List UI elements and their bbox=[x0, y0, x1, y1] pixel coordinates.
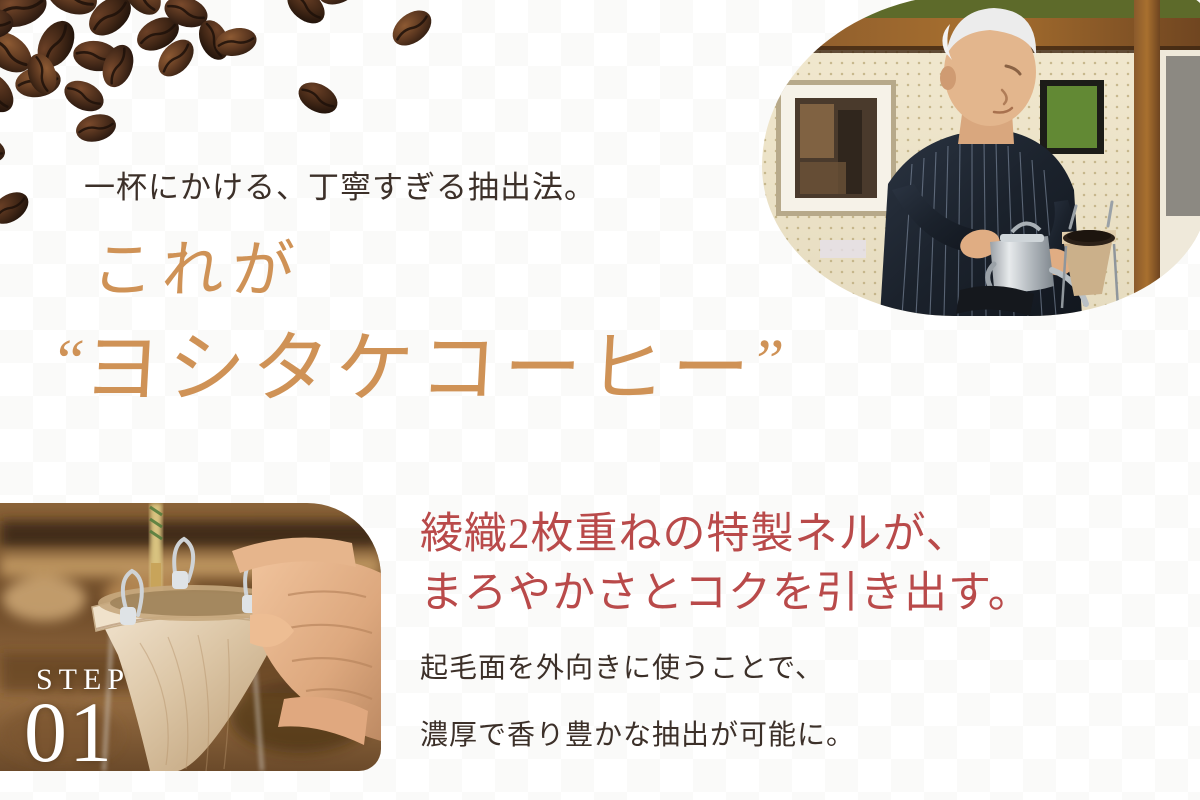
step-photo-illustration bbox=[0, 503, 381, 771]
copy-headline-line-2: まろやかさとコクを引き出す。 bbox=[420, 564, 1120, 623]
headline-block: 一杯にかける、丁寧すぎる抽出法。 これが “ヨシタケコーヒー” bbox=[84, 162, 784, 301]
brand-name-text: ヨシタケコーヒー bbox=[81, 324, 758, 414]
brand-name-title: “ヨシタケコーヒー” bbox=[54, 330, 785, 408]
barista-pouring-kettle-photo bbox=[762, 0, 1200, 316]
close-quote-mark: ” bbox=[754, 327, 785, 395]
nel-cloth-filter-photo: STEP 01 bbox=[0, 503, 381, 771]
open-quote-mark: “ bbox=[55, 327, 86, 395]
copy-sub-line-1: 起毛面を外向きに使うことで、 bbox=[420, 646, 1120, 691]
promo-page: STEP 01 一杯にかける、丁寧すぎる抽出法。 これが “ヨシタケコーヒー” … bbox=[0, 0, 1200, 800]
copy-block: 綾織2枚重ねの特製ネルが、 まろやかさとコクを引き出す。 起毛面を外向きに使うこ… bbox=[420, 505, 1120, 758]
hero-photo-illustration bbox=[762, 0, 1200, 316]
copy-sub-line-2: 濃厚で香り豊かな抽出が可能に。 bbox=[420, 713, 1120, 758]
lead-copy: 一杯にかける、丁寧すぎる抽出法。 bbox=[84, 162, 784, 207]
kore-word: これが bbox=[90, 239, 785, 301]
copy-headline-line-1: 綾織2枚重ねの特製ネルが、 bbox=[420, 505, 1120, 564]
